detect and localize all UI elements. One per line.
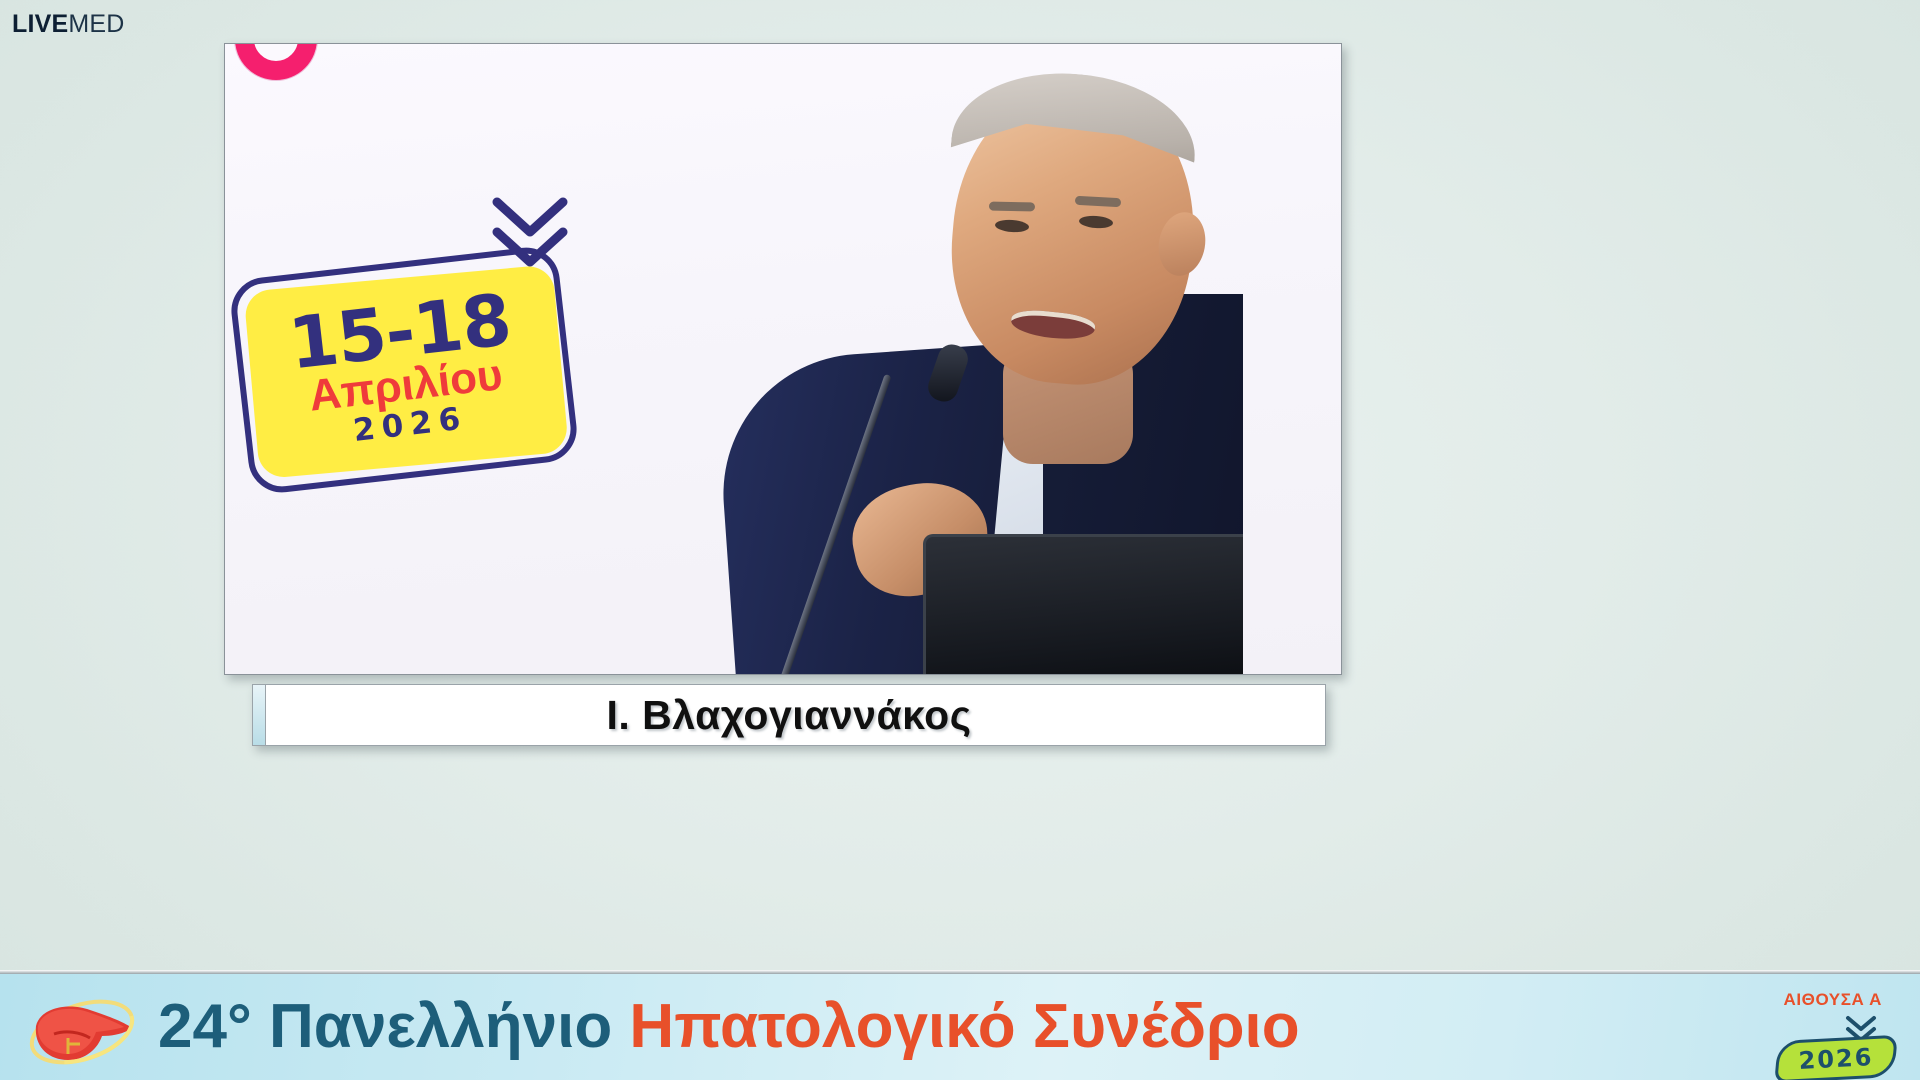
speaker-name-banner: Ι. Βλαχογιαννάκος xyxy=(252,684,1326,746)
year-chip-text: 2026 xyxy=(1775,1035,1897,1080)
livemed-logo: LIVEMED xyxy=(12,12,125,37)
room-label-text: ΑΙΘΟΥΣΑ Α xyxy=(1783,990,1882,1010)
speaker-portrait xyxy=(483,44,1243,675)
conference-title: 24° Πανελλήνιο Ηπατολογικό Συνέδριο xyxy=(158,996,1300,1058)
speaker-name-text: Ι. Βλαχογιαννάκος xyxy=(606,695,971,736)
liver-logo-icon xyxy=(24,992,144,1072)
speaker-eyebrow-left xyxy=(989,202,1035,212)
logo-text-bold: LIVE xyxy=(12,10,68,38)
logo-text-light: MED xyxy=(68,10,124,38)
video-player-stage[interactable]: 15-18 Απριλίου 2026 xyxy=(224,43,1342,675)
conference-title-subject: Ηπατολογικό Συνέδριο xyxy=(629,992,1299,1061)
conference-banner: 24° Πανελλήνιο Ηπατολογικό Συνέδριο ΑΙΘΟ… xyxy=(0,970,1920,1080)
laptop-screen xyxy=(923,534,1243,675)
year-chip-badge: 2026 xyxy=(1776,1038,1896,1080)
banner-accent-bar xyxy=(253,685,266,745)
room-badge: ΑΙΘΟΥΣΑ Α 2026 xyxy=(1770,990,1900,1076)
conference-title-number: 24° Πανελλήνιο xyxy=(158,992,629,1061)
